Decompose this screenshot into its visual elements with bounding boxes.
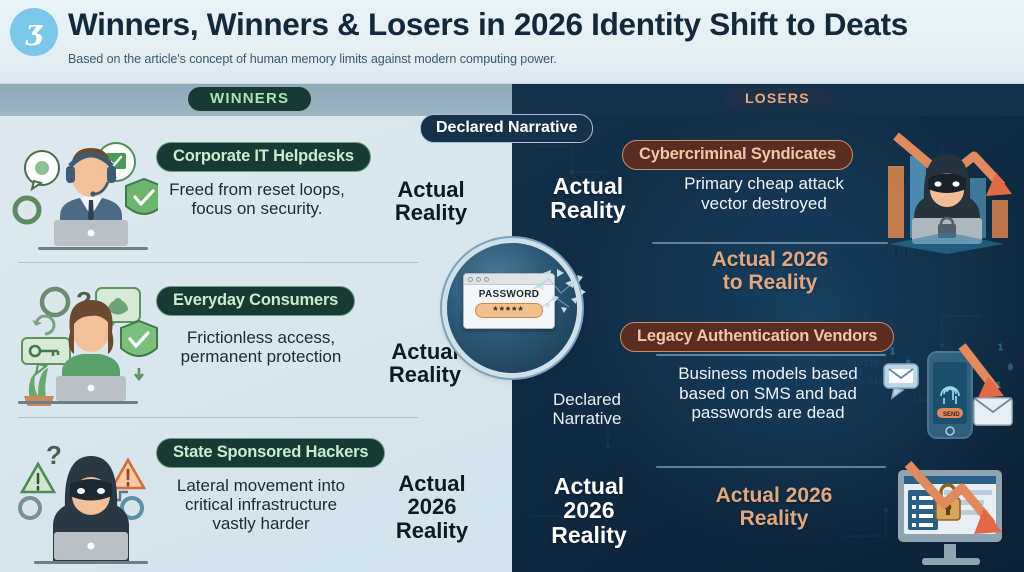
winner-verdict-3: Actual 2026 Reality <box>368 472 496 542</box>
infographic-root: ʒ Winners, Winners & Losers in 2026 Iden… <box>0 0 1024 572</box>
winners-badge: WINNERS <box>188 87 311 111</box>
winner-tag-3: State Sponsored Hackers <box>156 438 385 468</box>
winner-tag-1: Corporate IT Helpdesks <box>156 142 371 172</box>
winner-description-1: Freed from reset loops, focus on securit… <box>152 180 362 218</box>
loser-tag-1: Cybercriminal Syndicates <box>622 140 853 170</box>
consumer-at-laptop-icon: ? <box>8 270 158 406</box>
svg-text:1: 1 <box>998 343 1003 352</box>
winner-row-2: ? Everyday Consumers Frictionles <box>0 266 512 416</box>
svg-text:0: 0 <box>1008 363 1013 372</box>
dialog-dot-icon <box>476 277 481 282</box>
header: ʒ Winners, Winners & Losers in 2026 Iden… <box>0 0 1024 84</box>
section-band: WINNERS LOSERS <box>0 84 1024 116</box>
declared-narrative-badge: Declared Narrative <box>420 114 593 143</box>
svg-text:SEND: SEND <box>943 412 960 418</box>
winner-row-3: ? State Sponsored Hackers Lateral moveme… <box>0 420 512 572</box>
loser-verdict-3: Actual 2026 Reality <box>658 484 890 530</box>
page-subtitle: Based on the article's concept of human … <box>68 52 968 66</box>
loser-side-label-3: Actual 2026 Reality <box>522 474 656 547</box>
loser-side-label-2: Declared Narrative <box>524 390 650 428</box>
loser-side-label-1: Actual Reality <box>522 174 654 223</box>
page-title: Winners, Winners & Losers in 2026 Identi… <box>68 6 1016 43</box>
locked-monitor-downtrend-icon <box>882 460 1024 572</box>
logo-glyph: ʒ <box>26 17 42 45</box>
winner-description-2: Frictionless access, permanent protectio… <box>146 328 376 366</box>
winner-tag-2: Everyday Consumers <box>156 286 355 316</box>
dialog-dot-icon <box>484 277 489 282</box>
winner-verdict-1: Actual Reality <box>368 178 494 225</box>
loser-row-3: Actual 2026 Reality Actual 2026 Reality <box>512 466 1024 572</box>
phone-fingerprint-sms-icon: 101 010 SEND <box>878 336 1024 456</box>
shattered-glass-icon <box>531 259 587 319</box>
row-separator <box>18 417 418 418</box>
headset-support-agent-icon <box>8 124 158 252</box>
row-separator <box>18 262 418 263</box>
password-medallion: PASSWORD ***** <box>447 243 577 373</box>
dialog-dot-icon <box>468 277 473 282</box>
loser-row-2: Legacy Authentication Vendors Declared N… <box>512 316 1024 466</box>
losers-badge: LOSERS <box>723 87 832 110</box>
winner-description-3: Lateral movement into critical infrastru… <box>146 476 376 533</box>
loser-verdict-1: Actual 2026 to Reality <box>650 248 890 294</box>
loser-description-1: Primary cheap attack vector destroyed <box>650 174 878 213</box>
loser-description-2: Business models based based on SMS and b… <box>652 364 884 423</box>
hacker-downtrend-chart-icon <box>870 120 1024 256</box>
hooded-hacker-laptop-icon: ? <box>8 422 158 570</box>
brand-logo-icon: ʒ <box>10 8 58 56</box>
svg-text:?: ? <box>46 440 62 470</box>
svg-text:1: 1 <box>890 347 895 356</box>
loser-tag-2: Legacy Authentication Vendors <box>620 322 894 352</box>
